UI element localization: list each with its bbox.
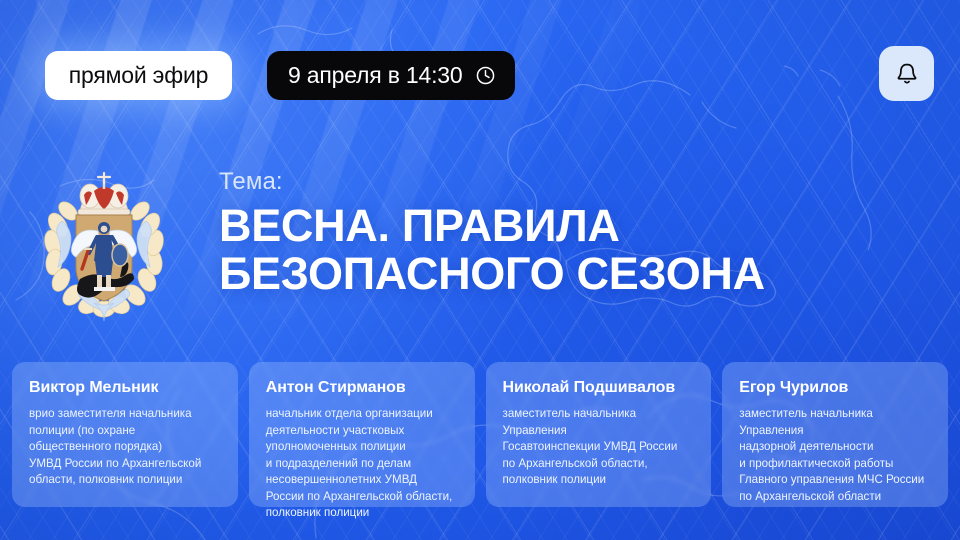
live-badge-label: прямой эфир	[69, 62, 208, 89]
page-title: ВЕСНА. ПРАВИЛА БЕЗОПАСНОГО СЕЗОНА	[219, 202, 765, 298]
datetime-badge-label: 9 апреля в 14:30	[288, 62, 462, 89]
speaker-role: начальник отдела организации деятельност…	[266, 406, 458, 522]
coat-of-arms-icon	[36, 163, 172, 325]
imperial-crown	[78, 173, 130, 215]
page-title-line-1: ВЕСНА. ПРАВИЛА	[219, 202, 765, 250]
speaker-role: врио заместителя начальника полиции (по …	[29, 406, 221, 489]
speaker-name: Егор Чурилов	[739, 379, 931, 397]
title-block: Тема: ВЕСНА. ПРАВИЛА БЕЗОПАСНОГО СЕЗОНА	[219, 168, 765, 298]
speaker-role: заместитель начальника Управления надзор…	[739, 406, 931, 505]
speaker-name: Виктор Мельник	[29, 379, 221, 397]
page-title-line-2: БЕЗОПАСНОГО СЕЗОНА	[219, 250, 765, 298]
title-kicker: Тема:	[219, 168, 765, 196]
speaker-name: Николай Подшивалов	[503, 379, 695, 397]
clock-icon	[475, 65, 496, 86]
speaker-card: Виктор Мельник врио заместителя начальни…	[12, 362, 238, 507]
bell-icon	[894, 61, 920, 87]
coat-of-arms	[36, 163, 172, 325]
live-badge: прямой эфир	[45, 51, 232, 100]
broadcast-announcement-slide: прямой эфир 9 апреля в 14:30	[0, 0, 960, 540]
speaker-card: Николай Подшивалов заместитель начальник…	[486, 362, 712, 507]
speaker-name: Антон Стирманов	[266, 379, 458, 397]
speaker-card: Антон Стирманов начальник отдела организ…	[249, 362, 475, 507]
notifications-button[interactable]	[879, 46, 934, 101]
datetime-badge: 9 апреля в 14:30	[267, 51, 515, 100]
speaker-role: заместитель начальника Управления Госавт…	[503, 406, 695, 489]
speakers-list: Виктор Мельник врио заместителя начальни…	[12, 362, 948, 507]
speaker-card: Егор Чурилов заместитель начальника Упра…	[722, 362, 948, 507]
